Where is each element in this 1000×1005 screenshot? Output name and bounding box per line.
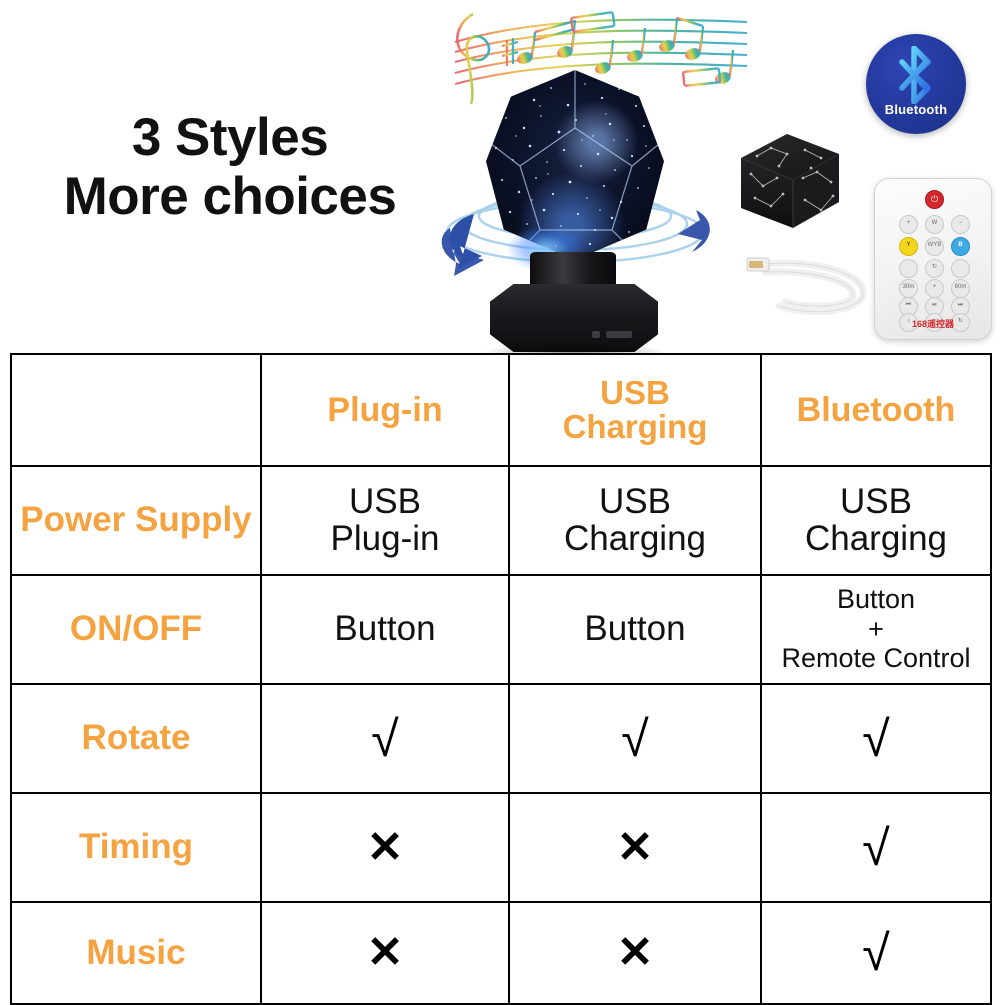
table-row-rotate: Rotate √ √ √ bbox=[11, 684, 991, 793]
comparison-table-body: Plug-in USB Charging Bluetooth Power Sup bbox=[11, 354, 991, 1004]
check-icon: √ bbox=[862, 928, 889, 978]
cell-timing-plug-in: ✕ bbox=[261, 793, 509, 902]
check-icon: √ bbox=[371, 714, 398, 764]
remote-button-volume-up[interactable]: + bbox=[925, 279, 944, 298]
header-cell-bluetooth: Bluetooth bbox=[761, 354, 991, 466]
row-label-timing: Timing bbox=[11, 793, 261, 902]
header-cell-plug-in: Plug-in bbox=[261, 354, 509, 466]
bluetooth-badge-label: Bluetooth bbox=[866, 102, 966, 117]
table-row-timing: Timing ✕ ✕ √ bbox=[11, 793, 991, 902]
remote-button-wyb[interactable]: WYB bbox=[925, 237, 944, 256]
usb-cable bbox=[745, 248, 875, 322]
table-row-power-supply: Power Supply USB Plug-in USB Charging bbox=[11, 466, 991, 575]
remote-button-mode-left[interactable] bbox=[899, 259, 918, 278]
table-row-music: Music ✕ ✕ √ bbox=[11, 902, 991, 1004]
remote-control: ⏻ + W − Y WYB B ↻ 30m + 60m ⏮ ⏯ ⏭ ♪ − ↻ … bbox=[874, 178, 992, 340]
remote-button-mode-right[interactable] bbox=[951, 259, 970, 278]
cell-power-supply-plug-in: USB Plug-in bbox=[261, 466, 509, 575]
row-label-rotate: Rotate bbox=[11, 684, 261, 793]
check-icon: √ bbox=[862, 823, 889, 873]
remote-button-b[interactable]: B bbox=[951, 237, 970, 256]
cell-music-usb-charging: ✕ bbox=[509, 902, 761, 1004]
cell-rotate-usb-charging: √ bbox=[509, 684, 761, 793]
star-projector-lamp bbox=[438, 62, 706, 353]
cell-rotate-plug-in: √ bbox=[261, 684, 509, 793]
remote-power-button[interactable]: ⏻ bbox=[925, 190, 944, 209]
remote-button-w[interactable]: W bbox=[925, 215, 944, 234]
header-cell-blank bbox=[11, 354, 261, 466]
cell-music-bluetooth: √ bbox=[761, 902, 991, 1004]
hero-section: 3 Styles More choices bbox=[0, 0, 1000, 353]
constellation-gift-box bbox=[735, 128, 845, 238]
header-cell-usb-charging: USB Charging bbox=[509, 354, 761, 466]
drop-shadow bbox=[484, 344, 664, 353]
remote-button-timer-60[interactable]: 60m bbox=[951, 279, 970, 298]
remote-button-timer-30[interactable]: 30m bbox=[899, 279, 918, 298]
cell-rotate-bluetooth: √ bbox=[761, 684, 991, 793]
page-title: 3 Styles More choices bbox=[30, 108, 430, 227]
cross-icon: ✕ bbox=[617, 931, 654, 975]
bluetooth-badge: Bluetooth bbox=[866, 34, 966, 134]
cell-timing-bluetooth: √ bbox=[761, 793, 991, 902]
row-label-music: Music bbox=[11, 902, 261, 1004]
cross-icon: ✕ bbox=[367, 931, 404, 975]
remote-button-minus[interactable]: − bbox=[951, 215, 970, 234]
remote-button-plus[interactable]: + bbox=[899, 215, 918, 234]
cell-on-off-usb-charging: Button bbox=[509, 575, 761, 684]
check-icon: √ bbox=[621, 714, 648, 764]
remote-button-rotate[interactable]: ↻ bbox=[925, 259, 944, 278]
row-label-power-supply: Power Supply bbox=[11, 466, 261, 575]
remote-model-label: 168遥控器 bbox=[875, 317, 991, 330]
table-header-row: Plug-in USB Charging Bluetooth bbox=[11, 354, 991, 466]
cell-on-off-plug-in: Button bbox=[261, 575, 509, 684]
row-label-on-off: ON/OFF bbox=[11, 575, 261, 684]
projector-base bbox=[490, 284, 658, 352]
table-row-on-off: ON/OFF Button Button Button + Remote Con… bbox=[11, 575, 991, 684]
cell-music-plug-in: ✕ bbox=[261, 902, 509, 1004]
headline-line-1: 3 Styles bbox=[30, 108, 430, 167]
usb-port bbox=[606, 331, 632, 338]
product-comparison-page: 3 Styles More choices bbox=[0, 0, 1000, 1000]
power-indicator bbox=[592, 331, 600, 338]
remote-button-y[interactable]: Y bbox=[899, 237, 918, 256]
cell-power-supply-bluetooth: USB Charging bbox=[761, 466, 991, 575]
cell-timing-usb-charging: ✕ bbox=[509, 793, 761, 902]
cell-on-off-bluetooth: Button + Remote Control bbox=[761, 575, 991, 684]
comparison-table: Plug-in USB Charging Bluetooth Power Sup bbox=[10, 353, 992, 1005]
cross-icon: ✕ bbox=[367, 826, 404, 870]
cell-power-supply-usb-charging: USB Charging bbox=[509, 466, 761, 575]
headline-line-2: More choices bbox=[30, 167, 430, 226]
check-icon: √ bbox=[862, 714, 889, 764]
bluetooth-icon bbox=[892, 46, 940, 104]
cross-icon: ✕ bbox=[617, 826, 654, 870]
